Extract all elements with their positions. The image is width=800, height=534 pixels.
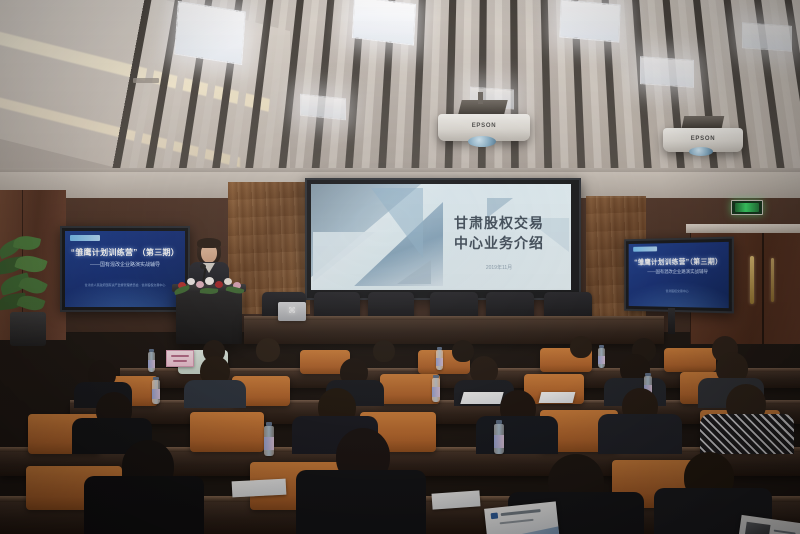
audience-torso <box>700 414 794 454</box>
water-bottle[interactable] <box>148 352 155 372</box>
apple-logo-icon: ⌘ <box>288 307 296 315</box>
projection-screen: 甘肃股权交易 中心业务介绍 2019年11月 <box>311 184 571 290</box>
led-stand-right <box>668 308 675 334</box>
ceiling-light-panel-1 <box>174 1 246 65</box>
bottle-cap <box>153 377 159 380</box>
booklet-title-line <box>501 509 541 516</box>
ceiling-light-panel-6 <box>300 94 346 121</box>
flower-bloom <box>196 281 204 288</box>
booklet-cover-graphic <box>487 524 560 534</box>
name-card-text-line <box>173 360 187 362</box>
booklet-photo-panel <box>744 522 770 534</box>
right-led-title: “雏鹰计划训练营”（第三期） <box>629 256 729 267</box>
notepad[interactable] <box>460 392 503 404</box>
plant-pot <box>10 312 46 346</box>
audience-head <box>256 338 280 362</box>
presenter-hair-front <box>197 238 221 248</box>
audience-head <box>452 340 474 362</box>
audience-head <box>373 340 395 362</box>
led-logo-right <box>633 246 657 251</box>
notepad[interactable] <box>539 392 576 403</box>
notepad[interactable] <box>232 479 287 498</box>
conference-room-photo: EPSON EPSON <box>0 0 800 534</box>
door-handle[interactable] <box>750 256 754 304</box>
bottle-cap <box>496 420 502 424</box>
bottle-cap <box>433 375 439 378</box>
head-table <box>244 318 664 344</box>
lectern <box>176 288 242 344</box>
water-bottle[interactable] <box>494 424 504 454</box>
door-handle-2[interactable] <box>771 258 774 302</box>
projection-screen-frame: 甘肃股权交易 中心业务介绍 2019年11月 <box>305 178 581 300</box>
flower-bloom <box>215 281 223 288</box>
potted-plant <box>0 236 58 346</box>
slide-triangle-accent-2 <box>313 232 375 282</box>
name-card-text-line <box>171 355 189 357</box>
bottle-label <box>598 356 605 364</box>
flower-leaf <box>200 287 219 295</box>
right-led-frame: “雏鹰计划训练营”（第三期） ——国有混改企业路演实战辅导 甘肃股权交易中心 <box>624 237 734 314</box>
head-table-edge <box>244 316 664 320</box>
projector-brand-label-2: EPSON <box>663 136 743 142</box>
door-seam <box>762 232 764 344</box>
bottle-label <box>264 437 274 450</box>
microphone-head <box>200 264 206 269</box>
slide-triangle-accent-3 <box>397 260 431 284</box>
bottle-cap <box>266 422 272 426</box>
ceiling-light-panel-3 <box>559 0 620 43</box>
ceiling-light-panel-2 <box>352 0 416 46</box>
right-led-display: “雏鹰计划训练营”（第三期） ——国有混改企业路演实战辅导 甘肃股权交易中心 <box>629 242 729 308</box>
left-led-title: “雏鹰计划训练营”（第三期） <box>65 247 185 258</box>
audience-torso <box>476 416 558 454</box>
macbook[interactable]: ⌘ <box>278 302 306 321</box>
audience-chair[interactable] <box>190 412 264 452</box>
audience-chair[interactable] <box>664 348 716 372</box>
projector-right: EPSON <box>663 126 743 162</box>
bottle-label <box>432 387 440 397</box>
water-bottle[interactable] <box>432 378 440 402</box>
booklet-logo <box>491 512 499 519</box>
ceiling-light-panel-4 <box>640 56 694 88</box>
ceiling-light-panel-5 <box>742 22 792 51</box>
water-bottle[interactable] <box>598 348 605 368</box>
left-led-display: “雏鹰计划训练营”（第三期） ——国有混改企业路演实战辅导 甘肃省人民政府国有资… <box>65 231 185 307</box>
audience-torso <box>84 476 204 534</box>
projector-lens-2 <box>689 147 713 156</box>
slide-date: 2019年11月 <box>429 264 569 271</box>
water-bottle[interactable] <box>152 380 160 404</box>
led-glow-left <box>65 277 185 307</box>
flower-bloom <box>205 277 214 285</box>
projector-center: EPSON <box>438 112 530 152</box>
slide-title-line-1: 甘肃股权交易 <box>429 214 569 233</box>
audience-torso <box>296 470 426 534</box>
water-bottle[interactable] <box>436 350 443 370</box>
bottle-label <box>152 389 160 399</box>
projector-mount-bracket-2 <box>682 116 725 128</box>
ceiling-vent <box>133 78 159 83</box>
projector-arm <box>478 92 483 104</box>
booklet-text-line <box>774 530 796 534</box>
left-led-subtitle: ——国有混改企业路演实战辅导 <box>65 261 185 268</box>
water-bottle[interactable] <box>264 426 274 456</box>
projector-lens <box>468 136 496 147</box>
bottle-cap <box>599 345 604 348</box>
delegate-name-card <box>166 350 194 367</box>
right-led-subtitle: ——国有混改企业路演实战辅导 <box>629 269 729 275</box>
audience-head <box>570 336 592 358</box>
notepad[interactable] <box>432 490 481 509</box>
bottle-label <box>148 360 155 368</box>
projector-brand-label: EPSON <box>438 123 530 129</box>
led-glow-right <box>629 281 729 308</box>
projector-mount-bracket <box>458 100 507 114</box>
left-led-footer: 甘肃省人民政府国有资产监督管理委员会 · 甘肃股权交易中心 <box>65 283 185 287</box>
plant-leaf <box>14 252 47 276</box>
bottle-cap <box>645 373 651 376</box>
audience-torso <box>598 414 682 454</box>
flower-leaf <box>173 285 190 295</box>
left-led-frame: “雏鹰计划训练营”（第三期） ——国有混改企业路演实战辅导 甘肃省人民政府国有资… <box>60 226 190 312</box>
emergency-exit-sign <box>731 200 763 215</box>
audience-chair[interactable] <box>380 374 440 404</box>
slide-title-line-2: 中心业务介绍 <box>429 234 569 253</box>
bottle-cap <box>437 347 442 350</box>
door-upper-trim <box>686 224 800 233</box>
flower-leaf <box>226 285 245 296</box>
bottle-label <box>436 358 443 366</box>
booklet-subtitle-line <box>500 519 534 525</box>
bottle-cap <box>149 349 154 352</box>
led-logo-left <box>70 235 100 241</box>
audience-torso <box>184 380 246 408</box>
flower-arrangement <box>174 272 246 294</box>
flower-bloom <box>224 278 232 285</box>
exit-sign-glow <box>735 203 758 211</box>
bottle-label <box>494 435 504 448</box>
slide-triangle-accent-1 <box>371 188 423 258</box>
